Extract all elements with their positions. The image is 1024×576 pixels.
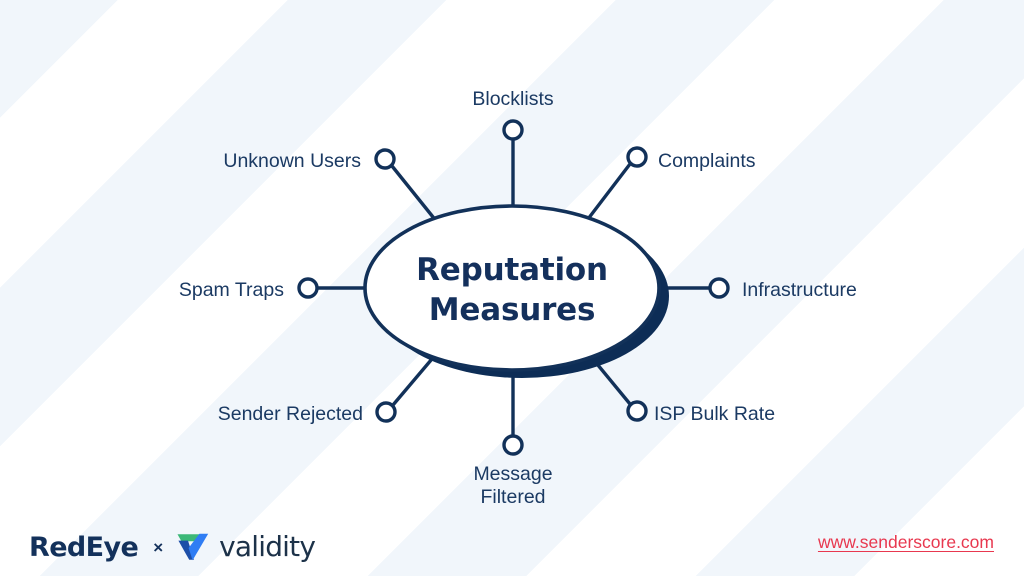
hub-title-line-1: Reputation (416, 252, 608, 288)
validity-checkmark-logo (176, 532, 210, 562)
spoke-complaints (588, 164, 630, 219)
node-spam-traps[interactable] (299, 279, 317, 297)
node-sender-rejected[interactable] (377, 403, 395, 421)
node-unknown-users[interactable] (376, 150, 394, 168)
hub-title-line-2: Measures (429, 292, 595, 328)
label-sender-rejected: Sender Rejected (218, 403, 363, 425)
label-unknown-users: Unknown Users (223, 150, 361, 172)
node-complaints[interactable] (628, 148, 646, 166)
spoke-unknown-users (392, 166, 437, 222)
label-blocklists: Blocklists (472, 88, 554, 110)
hub-group: Reputation Measures (365, 206, 669, 378)
label-isp-bulk-rate: ISP Bulk Rate (654, 403, 775, 425)
node-message-filtered[interactable] (504, 436, 522, 454)
senderscore-link[interactable]: www.senderscore.com (818, 532, 994, 553)
partnership-cross-symbol: × (153, 539, 163, 556)
reputation-measures-diagram: Reputation Measures Blocklists Unknown U… (0, 0, 1024, 576)
node-blocklists[interactable] (504, 121, 522, 139)
redeye-wordmark: RedEye (29, 534, 138, 561)
label-message-filtered-line-1: Message (473, 463, 552, 485)
hub-ellipse (365, 206, 659, 370)
label-infrastructure: Infrastructure (742, 279, 857, 301)
node-infrastructure[interactable] (710, 279, 728, 297)
validity-wordmark: validity (219, 533, 315, 561)
footer-logo-lockup: RedEye × validity (29, 532, 315, 562)
label-complaints: Complaints (658, 150, 756, 172)
label-message-filtered-line-2: Filtered (480, 486, 545, 508)
node-isp-bulk-rate[interactable] (628, 402, 646, 420)
label-spam-traps: Spam Traps (179, 279, 284, 301)
spoke-sender-rejected (393, 353, 437, 405)
